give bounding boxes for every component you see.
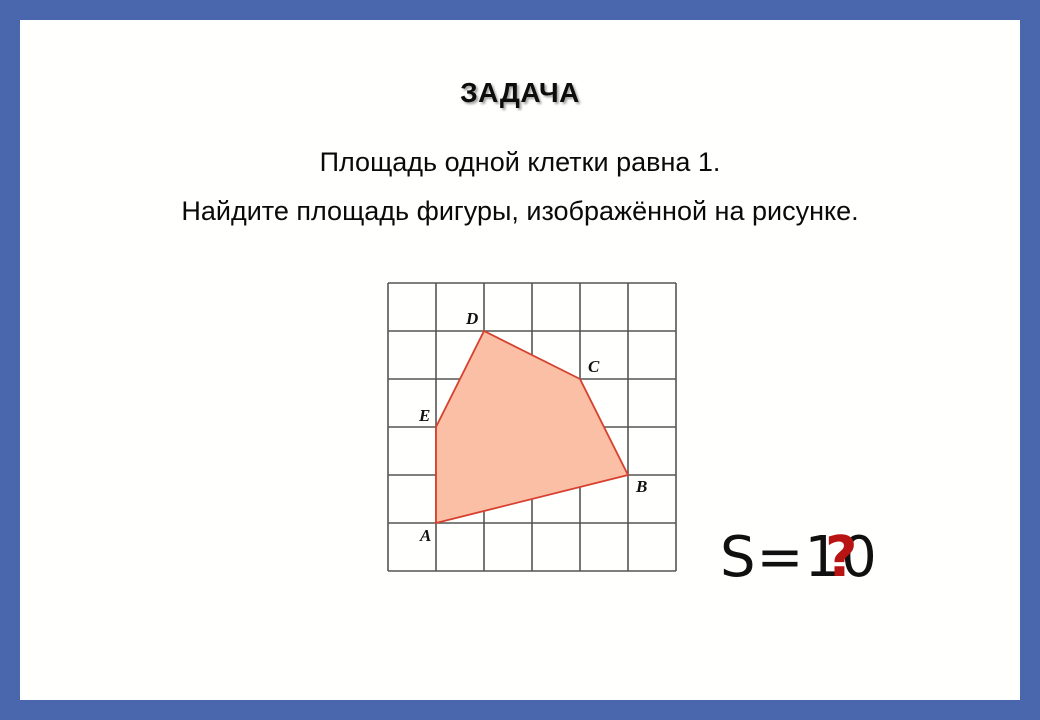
prompt-line-1: Площадь одной клетки равна 1. — [20, 138, 1020, 187]
prompt-line-2: Найдите площадь фигуры, изображённой на … — [20, 187, 1020, 236]
slide-panel: ЗАДАЧА Площадь одной клетки равна 1. Най… — [20, 20, 1020, 700]
answer-area: S=10 ? — [720, 525, 950, 595]
vertex-label-c: C — [588, 357, 600, 376]
grid-figure-svg: ABCDE — [368, 263, 698, 593]
problem-statement: Площадь одной клетки равна 1. Найдите пл… — [20, 138, 1020, 236]
vertex-label-d: D — [465, 309, 478, 328]
vertex-label-b: B — [635, 477, 647, 496]
page-title: ЗАДАЧА — [20, 77, 1020, 109]
vertex-label-e: E — [418, 406, 430, 425]
vertex-label-a: A — [419, 526, 431, 545]
figure-diagram: ABCDE — [368, 263, 698, 593]
answer-question-mark: ? — [825, 525, 857, 590]
